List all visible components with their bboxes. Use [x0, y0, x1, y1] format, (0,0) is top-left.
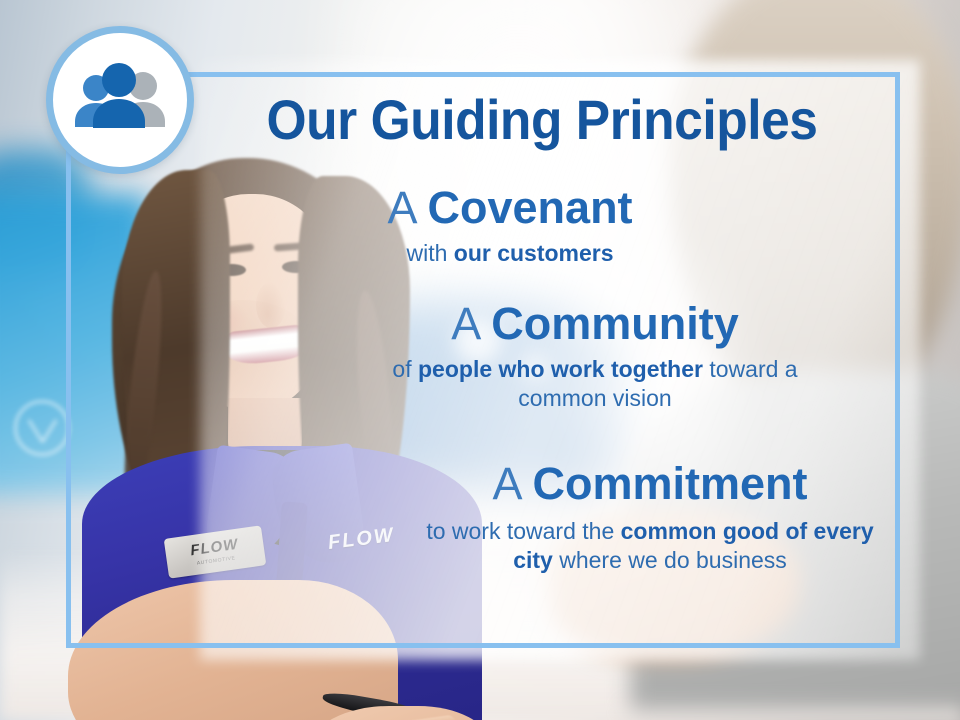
nose [256, 282, 286, 328]
principle-title: A Covenant [300, 184, 720, 231]
page-title: Our Guiding Principles [238, 92, 845, 148]
principle-description: to work toward the common good of every … [420, 517, 880, 575]
desc-part-bold: people who work together [418, 356, 703, 382]
principle-keyword: Covenant [428, 182, 633, 233]
principle-description: with our customers [300, 239, 720, 268]
principle-keyword: Commitment [533, 458, 808, 509]
desc-part: to work toward the [426, 518, 620, 544]
principle-article: A [451, 298, 479, 349]
guiding-principles-graphic: FLOW AUTOMOTIVE FLOW Our [0, 0, 960, 720]
principle-title: A Commitment [420, 460, 880, 507]
principle-title: A Community [360, 300, 830, 347]
desc-part: where we do business [553, 547, 787, 573]
desc-part: of [392, 356, 418, 382]
principle-description: of people who work together toward a com… [360, 355, 830, 413]
principle-keyword: Community [491, 298, 739, 349]
desc-part: with [406, 240, 453, 266]
principle-article: A [492, 458, 520, 509]
principle-community: A Community of people who work together … [360, 300, 830, 413]
principle-covenant: A Covenant with our customers [300, 184, 720, 268]
principle-article: A [387, 182, 415, 233]
people-group-icon [46, 26, 194, 174]
principle-commitment: A Commitment to work toward the common g… [420, 460, 880, 575]
desc-part-bold: our customers [454, 240, 614, 266]
